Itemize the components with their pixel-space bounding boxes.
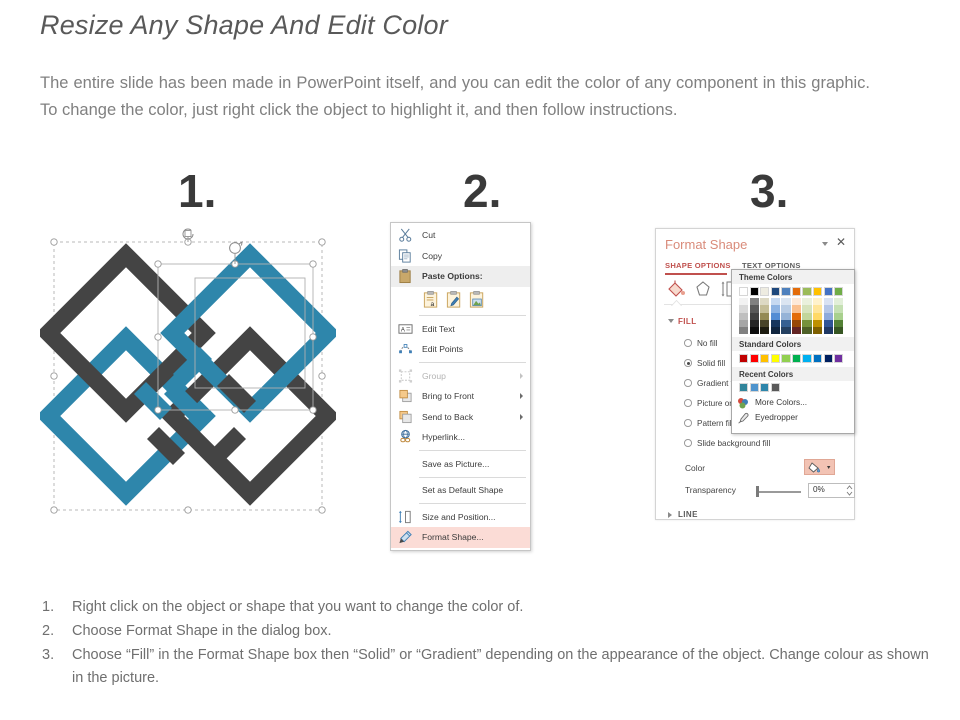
menu-label: Copy bbox=[422, 251, 442, 261]
theme-color-swatch[interactable] bbox=[824, 298, 833, 305]
standard-color-swatch[interactable] bbox=[834, 354, 843, 363]
more-colors-item[interactable]: More Colors... bbox=[732, 395, 854, 410]
theme-color-swatch[interactable] bbox=[750, 287, 759, 296]
theme-color-swatch[interactable] bbox=[739, 320, 748, 327]
eyedropper-icon bbox=[737, 412, 749, 424]
theme-color-swatch[interactable] bbox=[834, 320, 843, 327]
theme-color-swatch[interactable] bbox=[792, 327, 801, 334]
theme-color-swatch[interactable] bbox=[760, 298, 769, 305]
theme-color-swatch[interactable] bbox=[792, 305, 801, 312]
theme-color-swatch[interactable] bbox=[739, 327, 748, 334]
theme-color-swatch[interactable] bbox=[792, 287, 801, 296]
theme-color-swatch[interactable] bbox=[781, 320, 790, 327]
theme-color-column[interactable] bbox=[792, 287, 801, 334]
theme-color-swatch[interactable] bbox=[802, 305, 811, 312]
menu-label: Hyperlink... bbox=[422, 432, 465, 442]
theme-color-swatch[interactable] bbox=[760, 305, 769, 312]
copy-icon bbox=[398, 248, 413, 263]
theme-color-swatch[interactable] bbox=[750, 313, 759, 320]
theme-color-swatch[interactable] bbox=[813, 320, 822, 327]
theme-color-column[interactable] bbox=[824, 287, 833, 334]
menu-label: Group bbox=[422, 371, 446, 381]
theme-color-swatch[interactable] bbox=[739, 313, 748, 320]
svg-text:a: a bbox=[431, 301, 435, 308]
standard-color-swatch[interactable] bbox=[760, 354, 769, 363]
intro-paragraph: The entire slide has been made in PowerP… bbox=[40, 70, 870, 124]
theme-color-column[interactable] bbox=[771, 287, 780, 334]
edit-points-icon bbox=[398, 342, 413, 357]
menu-label: Edit Points bbox=[422, 344, 463, 354]
list-item: 3. Choose “Fill” in the Format Shape box… bbox=[40, 644, 940, 690]
theme-colors-grid[interactable] bbox=[732, 284, 854, 334]
theme-color-swatch[interactable] bbox=[771, 287, 780, 296]
theme-color-swatch[interactable] bbox=[824, 320, 833, 327]
theme-color-swatch[interactable] bbox=[813, 305, 822, 312]
radio-dot bbox=[684, 359, 692, 367]
effects-icon[interactable] bbox=[693, 279, 713, 299]
format-shape-title: Format Shape bbox=[665, 237, 747, 252]
step-number-2: 2. bbox=[463, 168, 501, 214]
list-item-number: 1. bbox=[42, 596, 64, 619]
theme-color-swatch[interactable] bbox=[781, 305, 790, 312]
theme-color-swatch[interactable] bbox=[771, 313, 780, 320]
menu-item-hyperlink[interactable]: Hyperlink... bbox=[391, 427, 530, 448]
weave-seg-4 bbox=[214, 433, 240, 459]
active-icon-caret bbox=[671, 300, 682, 306]
menu-label: Edit Text bbox=[422, 324, 455, 334]
menu-separator bbox=[419, 315, 526, 316]
standard-color-swatch[interactable] bbox=[802, 354, 811, 363]
radio-dot bbox=[684, 339, 692, 347]
fill-section-header[interactable]: FILL bbox=[678, 317, 696, 326]
menu-item-format-shape[interactable]: Format Shape... bbox=[391, 527, 530, 548]
standard-colors-row[interactable] bbox=[732, 351, 854, 367]
paste-picture-button[interactable] bbox=[468, 290, 487, 309]
theme-color-swatch[interactable] bbox=[760, 287, 769, 296]
theme-color-swatch[interactable] bbox=[739, 305, 748, 312]
theme-color-column[interactable] bbox=[781, 287, 790, 334]
standard-color-swatch[interactable] bbox=[781, 354, 790, 363]
menu-item-group[interactable]: Group bbox=[391, 366, 530, 387]
standard-color-swatch[interactable] bbox=[824, 354, 833, 363]
more-colors-icon bbox=[737, 397, 749, 409]
standard-color-swatch[interactable] bbox=[739, 354, 748, 363]
theme-color-column[interactable] bbox=[739, 287, 748, 334]
radio-dot bbox=[684, 399, 692, 407]
paste-icon bbox=[398, 269, 413, 284]
rotate-handle-outer bbox=[183, 229, 193, 242]
menu-separator bbox=[419, 450, 526, 451]
list-item-text: Choose Format Shape in the dialog box. bbox=[72, 623, 332, 639]
theme-color-swatch[interactable] bbox=[824, 313, 833, 320]
menu-label: Paste Options: bbox=[422, 271, 483, 281]
line-section-header[interactable]: LINE bbox=[678, 510, 698, 519]
bring-to-front-icon bbox=[398, 389, 413, 404]
menu-label: Size and Position... bbox=[422, 512, 496, 522]
diamond-shapes bbox=[48, 255, 328, 494]
submenu-arrow-icon bbox=[520, 373, 523, 379]
radio-label: Solid fill bbox=[697, 359, 725, 368]
theme-color-swatch[interactable] bbox=[813, 298, 822, 305]
theme-color-swatch[interactable] bbox=[813, 287, 822, 296]
submenu-arrow-icon bbox=[520, 393, 523, 399]
theme-color-swatch[interactable] bbox=[781, 313, 790, 320]
radio-dot bbox=[684, 439, 692, 447]
menu-label: Save as Picture... bbox=[422, 459, 489, 469]
hyperlink-icon bbox=[398, 430, 413, 445]
theme-color-swatch[interactable] bbox=[750, 298, 759, 305]
transparency-slider-knob[interactable] bbox=[756, 486, 759, 497]
color-picker-button[interactable] bbox=[804, 459, 835, 475]
recent-colors-header: Recent Colors bbox=[732, 367, 854, 381]
paste-keep-source-formatting-button[interactable]: a bbox=[422, 290, 441, 309]
theme-color-column[interactable] bbox=[834, 287, 843, 334]
theme-color-column[interactable] bbox=[760, 287, 769, 334]
menu-separator bbox=[419, 503, 526, 504]
menu-item-edit-points[interactable]: Edit Points bbox=[391, 339, 530, 360]
send-to-back-icon bbox=[398, 409, 413, 424]
radio-label: Pattern fill bbox=[697, 419, 733, 428]
theme-color-swatch[interactable] bbox=[834, 327, 843, 334]
menu-item-size-and-position[interactable]: Size and Position... bbox=[391, 507, 530, 528]
menu-label: Cut bbox=[422, 230, 435, 240]
recent-color-swatch[interactable] bbox=[750, 383, 759, 392]
radio-pattern-fill[interactable]: Pattern fill bbox=[684, 417, 733, 430]
recent-colors-row[interactable] bbox=[732, 381, 854, 395]
group-icon bbox=[398, 368, 413, 383]
theme-color-swatch[interactable] bbox=[792, 298, 801, 305]
theme-color-swatch[interactable] bbox=[802, 298, 811, 305]
theme-color-swatch[interactable] bbox=[760, 327, 769, 334]
theme-color-swatch[interactable] bbox=[781, 327, 790, 334]
theme-color-swatch[interactable] bbox=[802, 327, 811, 334]
theme-color-swatch[interactable] bbox=[824, 327, 833, 334]
menu-item-save-as-picture[interactable]: Save as Picture... bbox=[391, 454, 530, 475]
theme-color-swatch[interactable] bbox=[824, 287, 833, 296]
transparency-label: Transparency bbox=[685, 485, 736, 495]
menu-item-set-as-default-shape[interactable]: Set as Default Shape bbox=[391, 480, 530, 501]
recent-color-swatch[interactable] bbox=[739, 383, 748, 392]
theme-color-swatch[interactable] bbox=[802, 313, 811, 320]
radio-slide-background-fill[interactable]: Slide background fill bbox=[684, 437, 770, 450]
interlocking-diamonds-svg[interactable] bbox=[40, 228, 336, 522]
paste-options-row[interactable]: a bbox=[391, 287, 530, 313]
list-item-number: 2. bbox=[42, 620, 64, 643]
theme-color-swatch[interactable] bbox=[739, 287, 748, 296]
radio-label: No fill bbox=[697, 339, 717, 348]
theme-color-swatch[interactable] bbox=[771, 305, 780, 312]
list-item-text: Right click on the object or shape that … bbox=[72, 599, 523, 615]
menu-label: Format Shape... bbox=[422, 532, 484, 542]
menu-item-cut[interactable]: Cut bbox=[391, 225, 530, 246]
format-shape-icon bbox=[398, 530, 413, 545]
weave-seg-3 bbox=[223, 380, 250, 407]
menu-separator bbox=[419, 477, 526, 478]
theme-color-swatch[interactable] bbox=[802, 287, 811, 296]
theme-color-swatch[interactable] bbox=[750, 327, 759, 334]
close-icon[interactable]: ✕ bbox=[836, 237, 846, 247]
menu-item-copy[interactable]: Copy bbox=[391, 246, 530, 267]
standard-colors-header: Standard Colors bbox=[732, 337, 854, 351]
theme-color-column[interactable] bbox=[802, 287, 811, 334]
transparency-value: 0% bbox=[813, 485, 825, 494]
context-menu[interactable]: Cut Copy Paste Options: bbox=[390, 222, 531, 551]
theme-color-swatch[interactable] bbox=[771, 327, 780, 334]
radio-label: Slide background fill bbox=[697, 439, 770, 448]
recent-color-swatch[interactable] bbox=[760, 383, 769, 392]
theme-color-swatch[interactable] bbox=[781, 287, 790, 296]
page-title: Resize Any Shape And Edit Color bbox=[40, 10, 448, 41]
theme-color-swatch[interactable] bbox=[781, 298, 790, 305]
tab-shape-options[interactable]: SHAPE OPTIONS bbox=[665, 261, 731, 270]
theme-color-swatch[interactable] bbox=[813, 327, 822, 334]
diamonds-graphic-panel[interactable] bbox=[40, 228, 336, 522]
fill-expand-triangle-icon[interactable] bbox=[668, 319, 674, 323]
theme-color-swatch[interactable] bbox=[834, 305, 843, 312]
standard-color-swatch[interactable] bbox=[750, 354, 759, 363]
radio-solid-fill[interactable]: Solid fill bbox=[684, 357, 725, 370]
transparency-spinner-icon[interactable] bbox=[846, 484, 853, 497]
theme-color-swatch[interactable] bbox=[760, 320, 769, 327]
list-item-text: Choose “Fill” in the Format Shape box th… bbox=[72, 647, 929, 686]
theme-colors-header: Theme Colors bbox=[732, 270, 854, 284]
menu-separator bbox=[419, 362, 526, 363]
theme-color-column[interactable] bbox=[813, 287, 822, 334]
radio-dot bbox=[684, 419, 692, 427]
menu-label: Set as Default Shape bbox=[422, 485, 503, 495]
theme-color-swatch[interactable] bbox=[760, 313, 769, 320]
step-number-3: 3. bbox=[750, 168, 788, 214]
color-label: Color bbox=[685, 463, 705, 473]
active-tab-underline bbox=[665, 273, 727, 275]
theme-color-swatch[interactable] bbox=[750, 305, 759, 312]
scissors-icon bbox=[398, 228, 413, 243]
standard-color-swatch[interactable] bbox=[813, 354, 822, 363]
theme-color-swatch[interactable] bbox=[813, 313, 822, 320]
fill-line-icon[interactable] bbox=[666, 279, 686, 299]
theme-color-swatch[interactable] bbox=[739, 298, 748, 305]
svg-text:A: A bbox=[401, 327, 405, 333]
theme-color-swatch[interactable] bbox=[792, 320, 801, 327]
theme-color-swatch[interactable] bbox=[834, 313, 843, 320]
slide-canvas: Resize Any Shape And Edit Color The enti… bbox=[0, 0, 960, 720]
line-expand-triangle-icon[interactable] bbox=[668, 512, 672, 518]
more-colors-label: More Colors... bbox=[755, 397, 807, 407]
menu-item-paste-options[interactable]: Paste Options: bbox=[391, 266, 530, 287]
step-number-1: 1. bbox=[178, 168, 216, 214]
submenu-arrow-icon bbox=[520, 414, 523, 420]
menu-label: Bring to Front bbox=[422, 391, 474, 401]
size-position-icon bbox=[398, 509, 413, 524]
radio-dot bbox=[684, 379, 692, 387]
theme-color-swatch[interactable] bbox=[771, 320, 780, 327]
recent-color-swatch[interactable] bbox=[771, 383, 780, 392]
theme-color-swatch[interactable] bbox=[802, 320, 811, 327]
theme-color-swatch[interactable] bbox=[834, 298, 843, 305]
menu-item-edit-text[interactable]: A Edit Text bbox=[391, 319, 530, 340]
list-item: 2. Choose Format Shape in the dialog box… bbox=[40, 620, 940, 643]
instructions-list: 1. Right click on the object or shape th… bbox=[40, 596, 940, 691]
standard-color-swatch[interactable] bbox=[771, 354, 780, 363]
fill-color-icon bbox=[805, 460, 836, 476]
theme-color-swatch[interactable] bbox=[771, 298, 780, 305]
theme-color-column[interactable] bbox=[750, 287, 759, 334]
theme-color-swatch[interactable] bbox=[834, 287, 843, 296]
color-picker-popup[interactable]: Theme Colors Standard Colors Recent Colo… bbox=[731, 269, 855, 434]
theme-color-swatch[interactable] bbox=[792, 313, 801, 320]
eyedropper-item[interactable]: Eyedropper bbox=[732, 410, 854, 425]
theme-color-swatch[interactable] bbox=[824, 305, 833, 312]
pane-options-dropdown-icon[interactable] bbox=[822, 242, 828, 246]
menu-item-bring-to-front[interactable]: Bring to Front bbox=[391, 386, 530, 407]
theme-color-swatch[interactable] bbox=[750, 320, 759, 327]
radio-no-fill[interactable]: No fill bbox=[684, 337, 717, 350]
list-item-number: 3. bbox=[42, 644, 64, 667]
paste-use-destination-theme-button[interactable] bbox=[445, 290, 464, 309]
list-item: 1. Right click on the object or shape th… bbox=[40, 596, 940, 619]
menu-item-send-to-back[interactable]: Send to Back bbox=[391, 407, 530, 428]
eyedropper-label: Eyedropper bbox=[755, 412, 798, 422]
transparency-slider-track[interactable] bbox=[757, 491, 801, 493]
standard-color-swatch[interactable] bbox=[792, 354, 801, 363]
edit-text-icon: A bbox=[398, 321, 413, 336]
menu-label: Send to Back bbox=[422, 412, 473, 422]
